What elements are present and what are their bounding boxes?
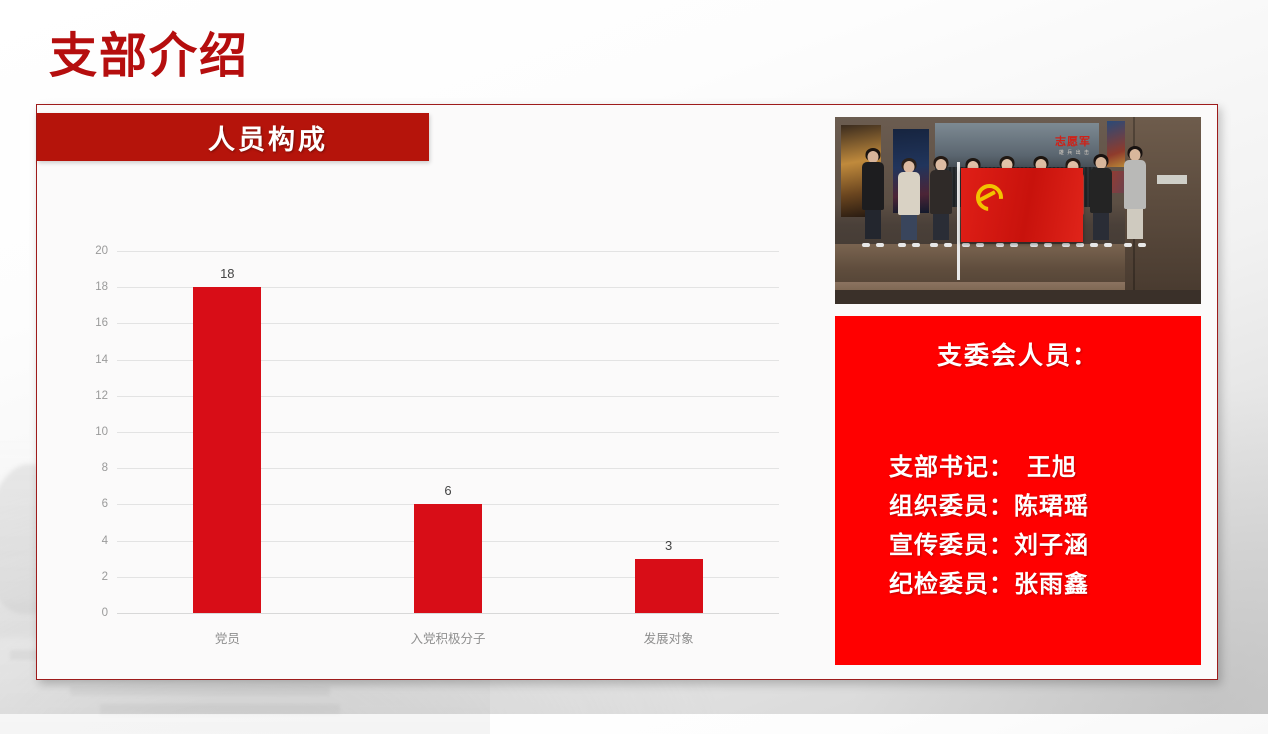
photo-poster-subtitle: 雄 兵 出 击 xyxy=(1059,149,1090,156)
photo-person xyxy=(859,148,887,244)
chart-y-tick-label: 10 xyxy=(95,426,108,438)
photo-person xyxy=(895,158,923,244)
chart-y-tick-label: 2 xyxy=(102,571,108,583)
chart-plot-area: 024681012141618201863 xyxy=(117,251,779,613)
photo-floor xyxy=(835,290,1201,304)
photo-exit-sign xyxy=(1157,175,1187,184)
chart-bar[interactable] xyxy=(414,504,482,613)
committee-list: 支部书记： 王旭组织委员：陈珺瑶宣传委员：刘子涵纪检委员：张雨鑫 xyxy=(835,448,1201,604)
committee-row: 宣传委员：刘子涵 xyxy=(889,526,1201,565)
chart-y-tick-label: 6 xyxy=(102,498,108,510)
hammer-sickle-icon xyxy=(973,182,999,208)
chart-bar-group: 18 xyxy=(117,251,338,613)
chart-y-tick-label: 20 xyxy=(95,245,108,257)
chart-bar[interactable] xyxy=(635,559,703,613)
committee-title: 支委会人员： xyxy=(835,336,1201,372)
personnel-composition-chart: 024681012141618201863 党员入党积极分子发展对象 xyxy=(61,245,801,665)
photo-person xyxy=(927,156,955,244)
group-photo: 志愿军 雄 兵 出 击 xyxy=(835,117,1201,304)
section-banner-label: 人员构成 xyxy=(138,118,328,157)
section-banner: 人员构成 xyxy=(37,113,429,161)
committee-row: 纪检委员：张雨鑫 xyxy=(889,565,1201,604)
chart-y-tick-label: 12 xyxy=(95,390,108,402)
photo-poster-title: 志愿军 xyxy=(1055,133,1091,149)
committee-panel: 支委会人员： 支部书记： 王旭组织委员：陈珺瑶宣传委员：刘子涵纪检委员：张雨鑫 xyxy=(835,316,1201,665)
committee-row: 组织委员：陈珺瑶 xyxy=(889,487,1201,526)
chart-gridline xyxy=(117,613,779,614)
chart-bar-value-label: 3 xyxy=(665,538,672,553)
chart-y-tick-label: 0 xyxy=(102,607,108,619)
chart-y-tick-label: 16 xyxy=(95,317,108,329)
chart-x-tick-label: 党员 xyxy=(117,628,338,647)
chart-bar-value-label: 6 xyxy=(444,483,451,498)
chart-y-tick-label: 4 xyxy=(102,535,108,547)
content-card: 人员构成 024681012141618201863 党员入党积极分子发展对象 … xyxy=(36,104,1218,680)
committee-row: 支部书记： 王旭 xyxy=(889,448,1201,487)
photo-party-flag xyxy=(961,168,1083,242)
chart-bar-value-label: 18 xyxy=(220,266,234,281)
chart-y-tick-label: 18 xyxy=(95,281,108,293)
photo-person xyxy=(1121,146,1149,244)
chart-y-tick-label: 8 xyxy=(102,462,108,474)
chart-bar[interactable] xyxy=(193,287,261,613)
chart-y-tick-label: 14 xyxy=(95,354,108,366)
chart-x-axis-labels: 党员入党积极分子发展对象 xyxy=(117,628,779,647)
page-title: 支部介绍 xyxy=(49,16,249,86)
chart-x-tick-label: 发展对象 xyxy=(558,628,779,647)
photo-flag-pole xyxy=(957,162,960,280)
chart-bars: 1863 xyxy=(117,251,779,613)
chart-x-tick-label: 入党积极分子 xyxy=(338,628,559,647)
photo-person xyxy=(1087,154,1115,244)
chart-bar-group: 6 xyxy=(338,251,559,613)
chart-bar-group: 3 xyxy=(558,251,779,613)
